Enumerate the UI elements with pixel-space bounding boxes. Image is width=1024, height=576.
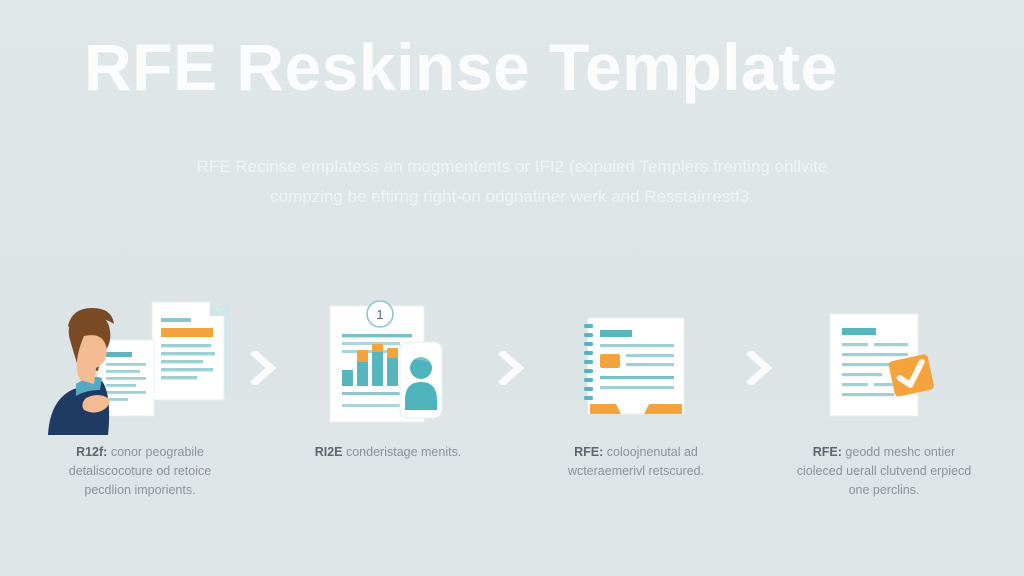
process-step-1[interactable]: R12f: conor peograbile detaliscocoture o… [40, 300, 240, 500]
chevron-right-icon [738, 300, 782, 435]
step-3-caption: RFE: coloojnenutal ad wcteraemerivl rets… [543, 443, 729, 481]
subtitle-line-1: RFE Recinse emplatess an mogmentents or … [197, 157, 828, 176]
step-2-caption-text: conderistage menits. [346, 445, 461, 459]
process-steps-row: R12f: conor peograbile detaliscocoture o… [40, 300, 984, 530]
approved-document-check-icon [784, 300, 984, 435]
step-3-caption-lead: RFE: [574, 445, 603, 459]
page-title: RFE Reskinse Template [84, 28, 944, 106]
chevron-right-icon [490, 300, 534, 435]
step-2-caption: RI2E conderistage menits. [295, 443, 481, 462]
process-step-4[interactable]: RFE: geodd meshc ontier cioleced uerall … [784, 300, 984, 500]
page-subtitle: RFE Recinse emplatess an mogmentents or … [82, 152, 942, 212]
step-4-caption: RFE: geodd meshc ontier cioleced uerall … [791, 443, 977, 500]
chevron-right-icon [242, 300, 286, 435]
step-2-badge-number: 1 [376, 307, 383, 322]
step-4-caption-lead: RFE: [813, 445, 842, 459]
subtitle-line-2: compzing be eftirng right-on odgnatiner … [270, 187, 754, 206]
slide-canvas: RFE Reskinse Template RFE Recinse emplat… [0, 0, 1024, 576]
step-2-caption-lead: RI2E [315, 445, 343, 459]
person-reviewing-documents-icon [40, 300, 240, 435]
process-step-2[interactable]: 1 [288, 300, 488, 462]
report-chart-with-mobile-icon: 1 [288, 300, 488, 435]
step-1-caption-lead: R12f: [76, 445, 107, 459]
step-1-caption: R12f: conor peograbile detaliscocoture o… [47, 443, 233, 500]
process-step-3[interactable]: RFE: coloojnenutal ad wcteraemerivl rets… [536, 300, 736, 481]
spiral-notepad-folder-icon [536, 300, 736, 435]
